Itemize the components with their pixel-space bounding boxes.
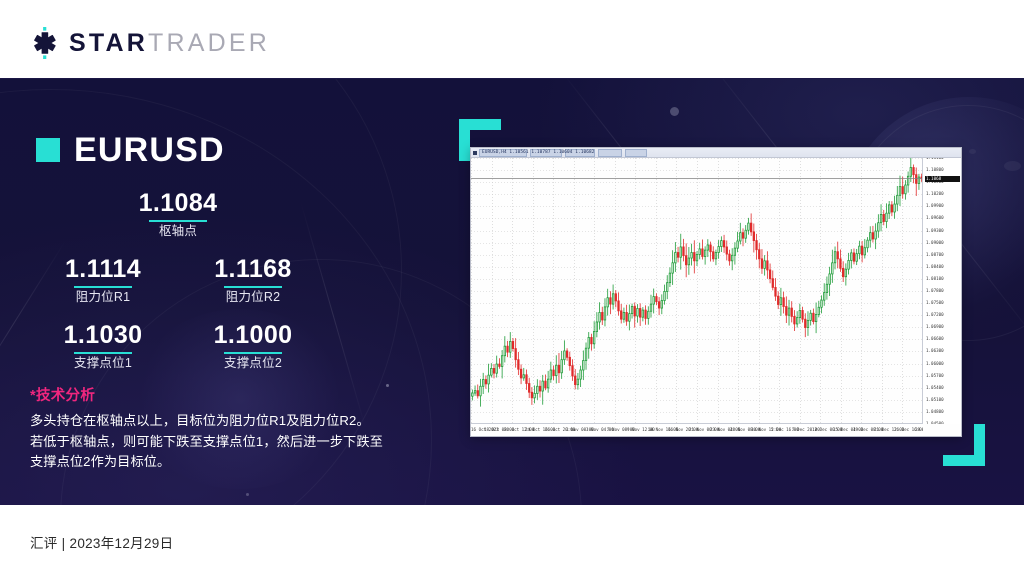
date-axis: 16 Oct 202318 Oct 08:0020 Oct 12:0024 Oc… <box>471 423 923 436</box>
price-tick-label: 1.08100 <box>926 276 944 282</box>
window-icon <box>473 151 477 155</box>
pivot-underline <box>224 352 282 354</box>
pivot-value: 1.1168 <box>178 256 328 283</box>
pivot-point: 1.1084 枢轴点 <box>28 190 328 239</box>
pivot-underline <box>74 286 132 288</box>
price-tick-label: 1.05700 <box>926 373 944 379</box>
chart-titlebar[interactable]: EURUSD,H4 1.10561 1.10787 1.10604 1.1068… <box>471 148 961 158</box>
pivot-row-support: 1.1030 支撑点位1 1.1000 支撑点位2 <box>28 322 328 371</box>
price-tick-label: 1.09600 <box>926 215 944 221</box>
bg-dot <box>670 107 679 116</box>
bg-planet-crater <box>1004 161 1021 171</box>
price-tick-label: 1.07200 <box>926 312 944 318</box>
pivot-row-resistance: 1.1114 阻力位R1 1.1168 阻力位R2 <box>28 256 328 305</box>
chart-ohlc-header: EURUSD,H4 1.10561 1.10787 1.10604 1.1068… <box>482 149 594 156</box>
price-tick-label: 1.06900 <box>926 324 944 330</box>
price-tick-label: 1.09900 <box>926 203 944 209</box>
pivot-underline <box>74 352 132 354</box>
instrument-marker <box>36 138 60 162</box>
pivot-value: 1.1084 <box>28 190 328 217</box>
page-header: STARTRADER <box>0 0 1024 79</box>
chart-window[interactable]: EURUSD,H4 1.10561 1.10787 1.10604 1.1068… <box>470 147 962 437</box>
analysis-line-3: 支撑点位2作为目标位。 <box>30 452 402 472</box>
price-tick-label: 1.05100 <box>926 397 944 403</box>
pivot-label: 阻力位R2 <box>178 291 328 305</box>
pivot-label: 阻力位R1 <box>28 291 178 305</box>
pivot-value: 1.1114 <box>28 256 178 283</box>
price-tick-label: 1.05400 <box>926 385 944 391</box>
price-tick-label: 1.04500 <box>926 421 944 424</box>
price-tick-label: 1.08400 <box>926 264 944 270</box>
support-1: 1.1030 支撑点位1 <box>28 322 178 371</box>
price-axis: 1.111001.108001.105001.102001.099001.096… <box>922 158 961 424</box>
instrument-symbol: EURUSD <box>74 133 225 167</box>
bg-planet-crater <box>969 149 976 154</box>
titlebar-chip <box>625 149 647 157</box>
pivot-label: 支撑点位1 <box>28 357 178 371</box>
chart-body: 1.111001.108001.105001.102001.099001.096… <box>471 158 961 436</box>
price-tick-label: 1.09300 <box>926 228 944 234</box>
price-tick-label: 1.07500 <box>926 300 944 306</box>
current-price-tag: 1.1068 <box>925 176 960 182</box>
page-footer: 汇评 | 2023年12月29日 <box>0 505 1024 576</box>
price-tick-label: 1.08700 <box>926 252 944 258</box>
pivot-underline <box>149 220 207 222</box>
brand-wordmark: STARTRADER <box>69 31 270 56</box>
brand-logo[interactable]: STARTRADER <box>28 26 270 60</box>
instrument-title: EURUSD <box>36 133 225 167</box>
price-tick-label: 1.11100 <box>926 158 944 161</box>
star-asterisk-icon <box>28 26 62 60</box>
resistance-2: 1.1168 阻力位R2 <box>178 256 328 305</box>
support-2: 1.1000 支撑点位2 <box>178 322 328 371</box>
candlestick-svg <box>471 158 923 424</box>
price-tick-label: 1.10200 <box>926 191 944 197</box>
resistance-1: 1.1114 阻力位R1 <box>28 256 178 305</box>
pivot-value: 1.1000 <box>178 322 328 349</box>
pivot-row-main: 1.1084 枢轴点 <box>28 190 328 239</box>
price-tick-label: 1.06300 <box>926 348 944 354</box>
technical-analysis: *技术分析 多头持仓在枢轴点以上，目标位为阻力位R1及阻力位R2。 若低于枢轴点… <box>30 388 402 473</box>
titlebar-chip <box>598 149 622 157</box>
analysis-line-2: 若低于枢轴点，则可能下跌至支撑点位1，然后进一步下跌至 <box>30 432 402 452</box>
pivot-value: 1.1030 <box>28 322 178 349</box>
bg-dot <box>386 384 389 387</box>
brand-name-light: TRADER <box>148 29 270 57</box>
price-tick-label: 1.10800 <box>926 167 944 173</box>
pivot-label: 枢轴点 <box>28 225 328 239</box>
price-tick-label: 1.06000 <box>926 361 944 367</box>
footer-caption: 汇评 | 2023年12月29日 <box>30 532 173 552</box>
pivot-underline <box>224 286 282 288</box>
chart-plot-area[interactable] <box>471 158 923 424</box>
analysis-line-1: 多头持仓在枢轴点以上，目标位为阻力位R1及阻力位R2。 <box>30 411 402 431</box>
analysis-title: *技术分析 <box>30 388 402 405</box>
price-tick-label: 1.09000 <box>926 240 944 246</box>
pivot-levels: 1.1084 枢轴点 1.1114 阻力位R1 1.1168 阻力位R2 <box>28 190 328 370</box>
price-tick-label: 1.07800 <box>926 288 944 294</box>
bg-dot <box>246 493 249 496</box>
brand-name-bold: STAR <box>69 29 148 57</box>
pivot-label: 支撑点位2 <box>178 357 328 371</box>
slide-root: STARTRADER EURUSD <box>0 0 1024 576</box>
price-tick-label: 1.06600 <box>926 336 944 342</box>
date-tick-label: 28 Dec 20:00 <box>915 427 923 433</box>
price-tick-label: 1.04800 <box>926 409 944 415</box>
